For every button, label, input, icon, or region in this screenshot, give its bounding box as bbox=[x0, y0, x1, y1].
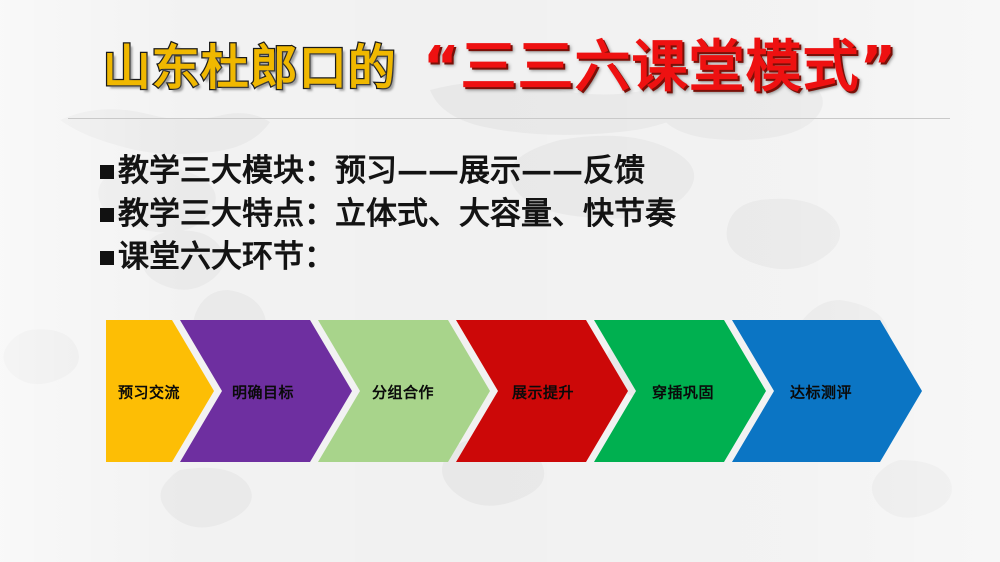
presentation-slide: 山东杜郎口的 “三三六课堂模式” 教学三大模块：预习——展示——反馈 教学三大特… bbox=[0, 0, 1000, 562]
process-step-5-label: 穿插巩固 bbox=[652, 384, 714, 402]
process-step-3-label: 分组合作 bbox=[372, 384, 434, 402]
process-step-1-label: 预习交流 bbox=[118, 384, 180, 402]
list-item-label: 教学三大特点：立体式、大容量、快节奏 bbox=[118, 199, 676, 230]
page-title: 山东杜郎口的 “三三六课堂模式” bbox=[0, 28, 1000, 108]
list-item-label: 课堂六大环节： bbox=[118, 242, 335, 273]
square-bullet-icon bbox=[100, 251, 114, 265]
process-step-2-label: 明确目标 bbox=[232, 384, 294, 402]
bullet-list: 教学三大模块：预习——展示——反馈 教学三大特点：立体式、大容量、快节奏 课堂六… bbox=[100, 150, 860, 279]
list-item-label: 教学三大模块：预习——展示——反馈 bbox=[118, 156, 645, 187]
process-flow-diagram: 预习交流 明确目标 分组合作 展示提升 穿插巩固 bbox=[0, 318, 1000, 468]
list-item: 教学三大特点：立体式、大容量、快节奏 bbox=[100, 193, 860, 236]
title-lead-text: 山东杜郎口的 bbox=[103, 44, 397, 92]
square-bullet-icon bbox=[100, 165, 114, 179]
process-step-6-label: 达标测评 bbox=[790, 384, 852, 402]
title-divider-line bbox=[68, 118, 950, 119]
list-item: 课堂六大环节： bbox=[100, 236, 860, 279]
title-main-text: “三三六课堂模式” bbox=[423, 40, 898, 96]
list-item: 教学三大模块：预习——展示——反馈 bbox=[100, 150, 860, 193]
square-bullet-icon bbox=[100, 208, 114, 222]
process-step-4-label: 展示提升 bbox=[512, 384, 574, 402]
